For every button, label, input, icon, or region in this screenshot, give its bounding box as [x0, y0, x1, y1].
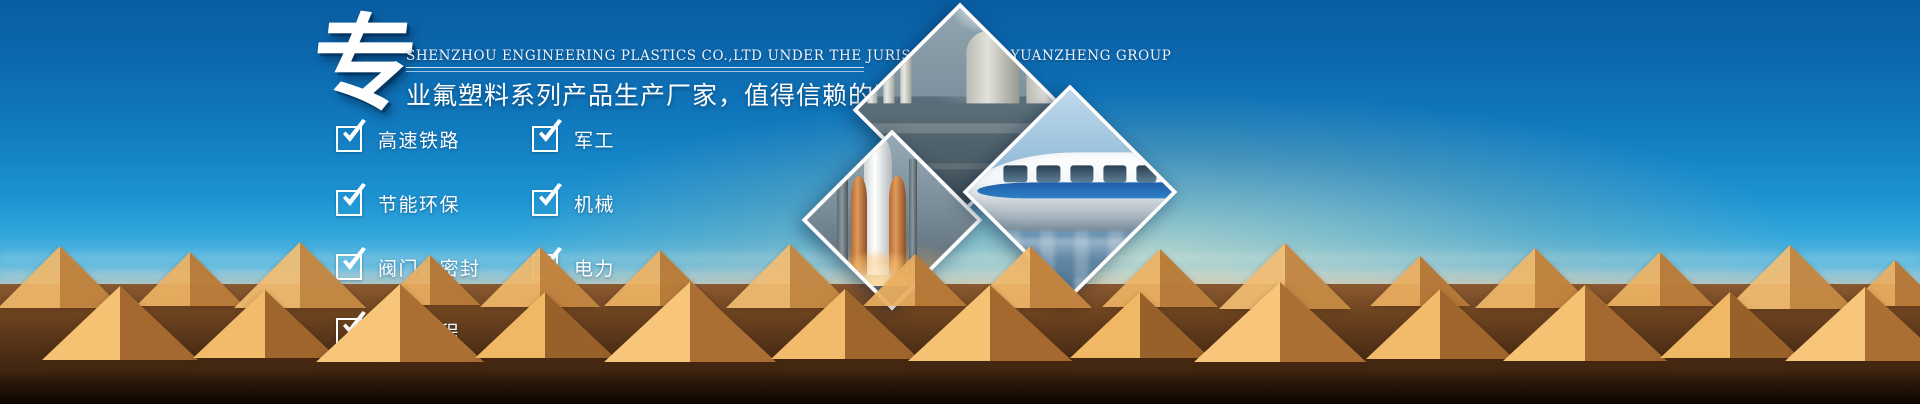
check-mark-icon — [339, 119, 369, 149]
feature-item[interactable]: 高速铁路 — [336, 122, 481, 156]
pyramid-shadow-face — [1865, 287, 1920, 361]
check-mark-icon — [535, 183, 565, 213]
checkbox-checked-icon[interactable] — [532, 190, 558, 216]
headline-english: SHENZHOU ENGINEERING PLASTICS CO.,LTD UN… — [406, 48, 1171, 64]
pyramid-shadow-face — [690, 282, 776, 362]
feature-label: 节能环保 — [378, 190, 460, 217]
feature-item[interactable]: 机械 — [532, 186, 615, 220]
pyramid-shadow-face — [990, 285, 1072, 361]
pyramid-shadow-face — [120, 286, 198, 360]
pyramid-shadow-face — [1280, 282, 1366, 362]
promo-banner: 专 SHENZHOU ENGINEERING PLASTICS CO.,LTD … — [0, 0, 1920, 404]
checkbox-checked-icon[interactable] — [336, 190, 362, 216]
pyramid-shadow-face — [400, 284, 484, 362]
feature-item[interactable]: 节能环保 — [336, 186, 481, 220]
feature-label: 高速铁路 — [378, 126, 460, 153]
divider-line-top — [406, 67, 864, 68]
checkbox-checked-icon[interactable] — [336, 126, 362, 152]
feature-label: 军工 — [574, 126, 615, 153]
check-mark-icon — [535, 119, 565, 149]
pyramid-shadow-face — [1585, 285, 1667, 361]
checkbox-checked-icon[interactable] — [532, 126, 558, 152]
foreground-shadow — [0, 370, 1920, 404]
check-mark-icon — [339, 183, 369, 213]
divider-line-bottom — [406, 71, 864, 72]
feature-item[interactable]: 军工 — [532, 122, 615, 156]
feature-label: 机械 — [574, 190, 615, 217]
